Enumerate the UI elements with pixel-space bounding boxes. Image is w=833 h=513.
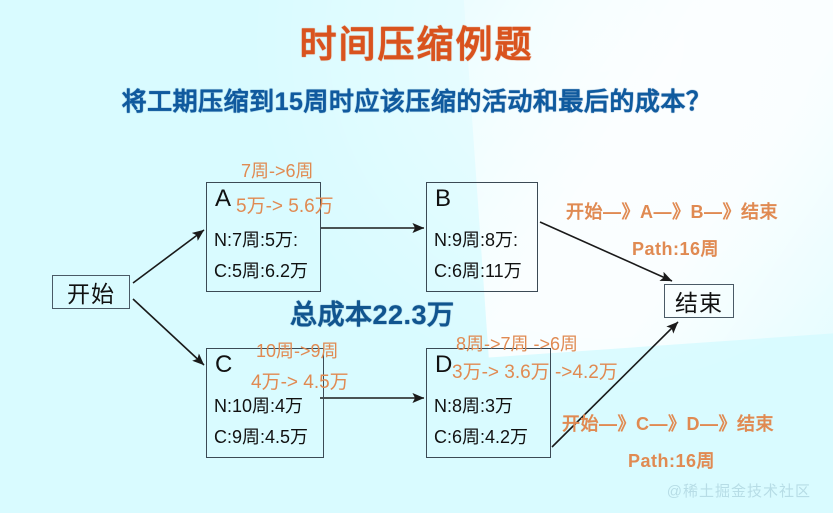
path-top-duration: Path:16周 [632,235,719,261]
page-subtitle: 将工期压缩到15周时应该压缩的活动和最后的成本？ [0,82,833,118]
edge-start-to-c [133,299,204,365]
terminal-end-label: 结束 [675,284,723,318]
annotation-c-time: 10周->9周 [256,341,339,362]
page-title: 时间压缩例题 [0,14,833,68]
node-c-normal: N:10周:4万 [214,397,303,417]
terminal-start[interactable]: 开始 [52,275,130,309]
path-bottom-route: 开始—》C—》D—》结束 [562,410,774,436]
node-b-normal: N:9周:8万: [434,231,518,251]
node-d-crash: C:6周:4.2万 [434,428,528,448]
edge-start-to-a [133,230,204,283]
annotation-a-cost: 5万-> 5.6万 [236,196,334,218]
annotation-c-cost: 4万-> 4.5万 [251,372,349,394]
node-d-normal: N:8周:3万 [434,397,513,417]
terminal-start-label: 开始 [67,275,115,309]
node-b[interactable]: B N:9周:8万: C:6周:11万 [426,182,538,292]
path-bottom-duration: Path:16周 [628,447,715,473]
node-b-letter: B [435,185,451,213]
node-b-crash: C:6周:11万 [434,262,522,282]
node-c-letter: C [215,351,232,379]
terminal-end[interactable]: 结束 [664,284,734,318]
node-c-crash: C:9周:4.5万 [214,428,308,448]
node-a-crash: C:5周:6.2万 [214,262,308,282]
annotation-d-time: 8周->7周 ->6周 [456,334,578,355]
node-a-normal: N:7周:5万: [214,231,298,251]
node-c[interactable]: C N:10周:4万 C:9周:4.5万 [206,348,324,458]
node-d-letter: D [435,351,452,379]
total-cost-label: 总成本22.3万 [290,293,455,332]
annotation-d-cost: 3万-> 3.6万 ->4.2万 [452,362,618,384]
slide-canvas: 时间压缩例题 将工期压缩到15周时应该压缩的活动和最后的成本？ 开始 结束 A … [0,0,833,513]
node-a-letter: A [215,185,231,213]
annotation-a-time: 7周->6周 [241,161,314,182]
watermark: @稀土掘金技术社区 [667,480,811,501]
path-top-route: 开始—》A—》B—》结束 [566,198,778,224]
